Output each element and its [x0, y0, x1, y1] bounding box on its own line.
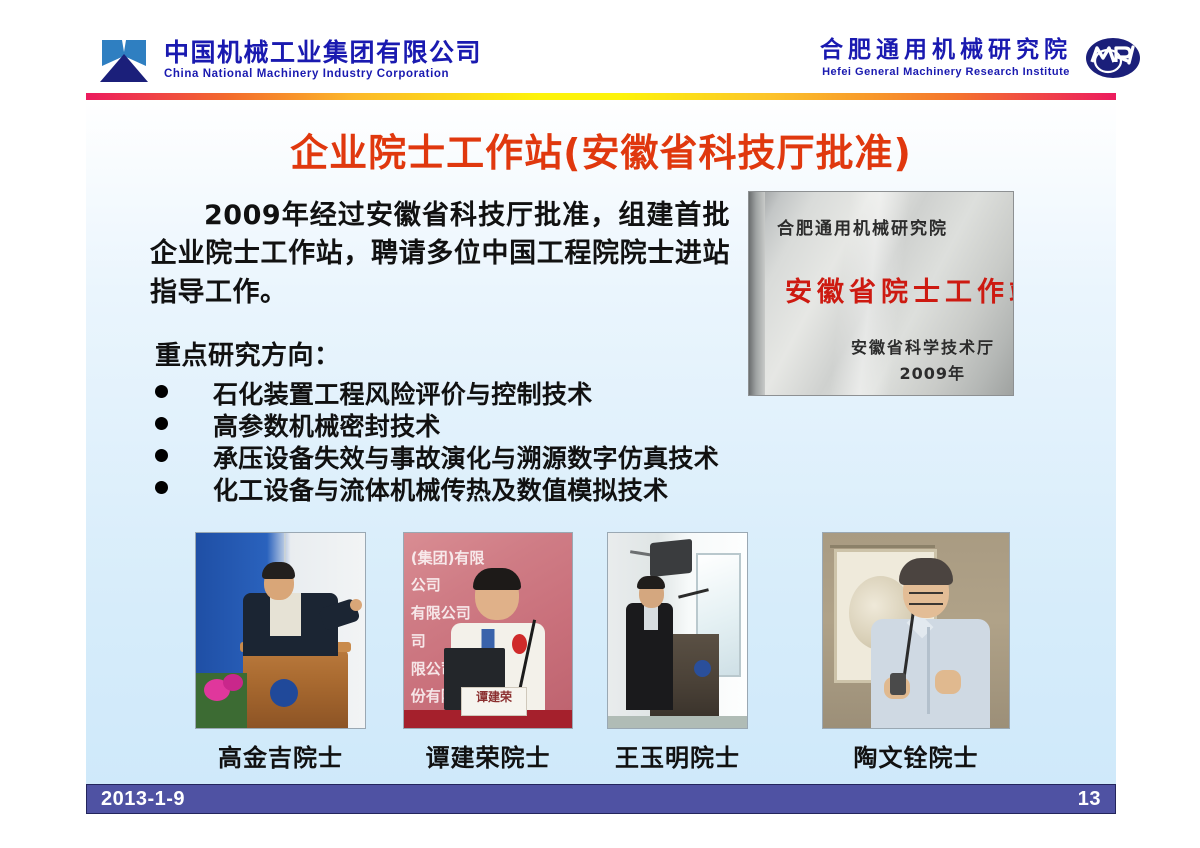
brand-left: 中国机械工业集团有限公司 China National Machinery In…: [96, 36, 482, 84]
academician-name: 谭建荣院士: [403, 738, 573, 773]
academician-card: (集团)有限公司 有限公司 司 限公司 份有限 谭建荣 谭建荣院士: [403, 532, 573, 773]
academician-card: 王玉明院士: [607, 532, 748, 773]
academician-photo: [195, 532, 366, 729]
academician-card: 陶文铨院士: [822, 532, 1010, 773]
footer-date: 2013-1-9: [101, 788, 185, 811]
award-plaque-photo: 合肥通用机械研究院 安徽省院士工作站 安徽省科学技术厅 2009年: [748, 191, 1014, 396]
list-item: 化工设备与流体机械传热及数值模拟技术: [155, 471, 875, 503]
academician-name: 高金吉院士: [195, 738, 366, 773]
page-title: 企业院士工作站(安徽省科技厅批准): [86, 122, 1116, 177]
academician-photo: [607, 532, 748, 729]
bullet-dot-icon: [155, 449, 168, 462]
bullet-dot-icon: [155, 385, 168, 398]
intro-paragraph: 2009年经过安徽省科技厅批准，组建首批企业院士工作站，聘请多位中国工程院院士进…: [150, 197, 730, 312]
list-item-label: 承压设备失效与事故演化与溯源数字仿真技术: [213, 439, 719, 475]
slide-footer: 2013-1-9 13: [86, 784, 1116, 814]
academician-photo: [822, 532, 1010, 729]
bullet-dot-icon: [155, 481, 168, 494]
mri-circular-logo-icon: [1084, 36, 1142, 80]
desk-nameplate: 谭建荣: [461, 687, 527, 716]
header-gradient-divider: [86, 93, 1116, 100]
slide-header: 中国机械工业集团有限公司 China National Machinery In…: [0, 0, 1200, 100]
section-heading: 重点研究方向：: [155, 335, 341, 372]
right-org-name-cn: 合肥通用机械研究院: [820, 39, 1072, 62]
list-item: 承压设备失效与事故演化与溯源数字仿真技术: [155, 439, 875, 471]
plaque-line-title: 安徽省院士工作站: [785, 270, 1014, 309]
plaque-line-issuer: 安徽省科学技术厅: [851, 334, 995, 358]
mountain-book-logo-icon: [96, 36, 152, 84]
list-item-label: 高参数机械密封技术: [213, 407, 441, 443]
academician-name: 陶文铨院士: [822, 738, 1010, 773]
list-item: 高参数机械密封技术: [155, 407, 875, 439]
academician-card: 高金吉院士: [195, 532, 366, 773]
brand-right-text: 合肥通用机械研究院 Hefei General Machinery Resear…: [820, 39, 1072, 78]
list-item-label: 化工设备与流体机械传热及数值模拟技术: [213, 471, 668, 507]
bullet-dot-icon: [155, 417, 168, 430]
plaque-line-institute: 合肥通用机械研究院: [777, 214, 948, 239]
academician-name: 王玉明院士: [607, 738, 748, 773]
academician-photo-strip: 高金吉院士 (集团)有限公司 有限公司 司 限公司 份有限: [195, 532, 1015, 772]
academician-photo: (集团)有限公司 有限公司 司 限公司 份有限 谭建荣: [403, 532, 573, 729]
plaque-line-year: 2009年: [899, 360, 965, 384]
left-org-name-cn: 中国机械工业集团有限公司: [164, 40, 482, 65]
footer-page-number: 13: [1078, 788, 1101, 811]
brand-right: 合肥通用机械研究院 Hefei General Machinery Resear…: [820, 36, 1142, 80]
brand-left-text: 中国机械工业集团有限公司 China National Machinery In…: [164, 40, 482, 81]
left-org-name-en: China National Machinery Industry Corpor…: [164, 69, 482, 81]
list-item-label: 石化装置工程风险评价与控制技术: [213, 375, 593, 411]
right-org-name-en: Hefei General Machinery Research Institu…: [822, 67, 1070, 78]
presentation-slide: 中国机械工业集团有限公司 China National Machinery In…: [0, 0, 1200, 848]
